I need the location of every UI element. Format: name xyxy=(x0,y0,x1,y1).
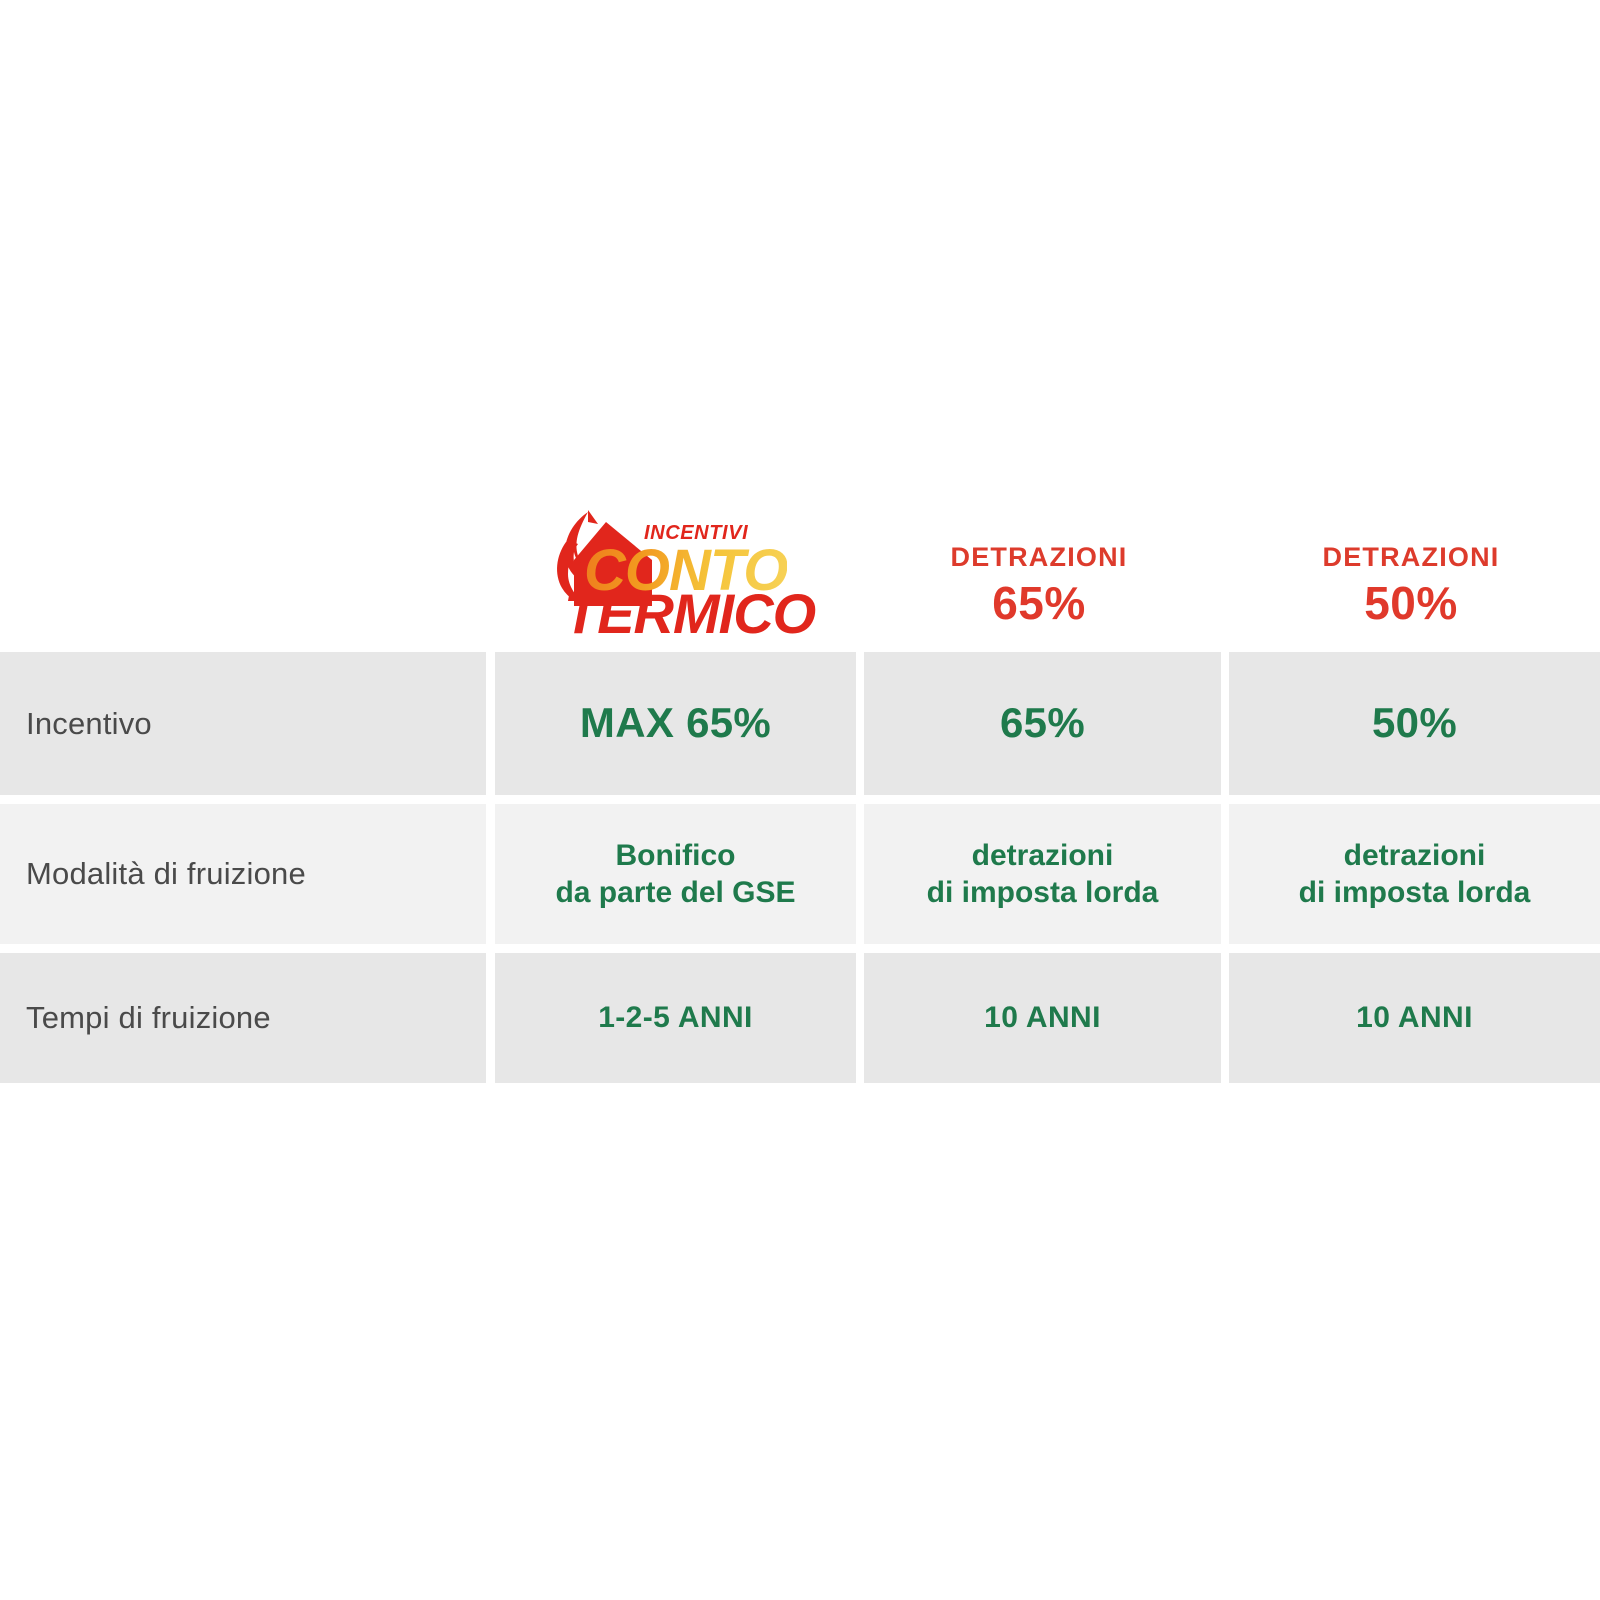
value-incentivo-detrazioni-50: 50% xyxy=(1372,697,1457,750)
cell-incentivo-detrazioni-50: 50% xyxy=(1229,652,1600,795)
header-percent-50: 50% xyxy=(1323,580,1500,626)
row-label-tempi-di-fruizione: Tempi di fruizione xyxy=(26,1000,271,1036)
cell-modalita-conto-termico: Bonifico da parte del GSE xyxy=(495,804,856,944)
table-header-row: INCENTIVI CONTO TERMICO DETRAZIONI 65% D… xyxy=(0,478,1600,648)
cell-modalita-detrazioni-50: detrazioni di imposta lorda xyxy=(1229,804,1600,944)
table-row: Tempi di fruizione 1-2-5 ANNI 10 ANNI 10… xyxy=(0,953,1600,1083)
conto-termico-logo: INCENTIVI CONTO TERMICO xyxy=(536,500,806,648)
value-incentivo-conto-termico: MAX 65% xyxy=(580,697,771,750)
value-incentivo-detrazioni-65: 65% xyxy=(1000,697,1085,750)
value-modalita-detrazioni-50-line1: detrazioni xyxy=(1299,837,1531,875)
cell-incentivo-detrazioni-65: 65% xyxy=(864,652,1221,795)
value-tempi-detrazioni-50: 10 ANNI xyxy=(1356,999,1473,1037)
row-label-cell: Incentivo xyxy=(0,652,486,795)
value-tempi-detrazioni-65: 10 ANNI xyxy=(984,999,1101,1037)
table-row: Incentivo MAX 65% 65% 50% xyxy=(0,652,1600,795)
header-detrazioni-65: DETRAZIONI 65% xyxy=(856,478,1222,648)
cell-tempi-detrazioni-50: 10 ANNI xyxy=(1229,953,1600,1083)
row-label-modalita-di-fruizione: Modalità di fruizione xyxy=(26,856,306,892)
header-conto-termico: INCENTIVI CONTO TERMICO xyxy=(486,478,856,648)
cell-incentivo-conto-termico: MAX 65% xyxy=(495,652,856,795)
comparison-table-page: INCENTIVI CONTO TERMICO DETRAZIONI 65% D… xyxy=(0,0,1600,1600)
cell-modalita-detrazioni-65: detrazioni di imposta lorda xyxy=(864,804,1221,944)
value-modalita-detrazioni-65-line2: di imposta lorda xyxy=(927,874,1159,912)
header-detrazioni-50: DETRAZIONI 50% xyxy=(1222,478,1600,648)
header-kicker-detrazioni-65: DETRAZIONI xyxy=(951,544,1128,571)
cell-tempi-detrazioni-65: 10 ANNI xyxy=(864,953,1221,1083)
value-modalita-detrazioni-65-line1: detrazioni xyxy=(927,837,1159,875)
value-modalita-detrazioni-50-line2: di imposta lorda xyxy=(1299,874,1531,912)
value-tempi-conto-termico: 1-2-5 ANNI xyxy=(598,999,753,1037)
header-kicker-detrazioni-50: DETRAZIONI xyxy=(1323,544,1500,571)
row-label-incentivo: Incentivo xyxy=(26,706,152,742)
value-modalita-conto-termico-line1: Bonifico xyxy=(555,837,795,875)
value-modalita-conto-termico-line2: da parte del GSE xyxy=(555,874,795,912)
row-label-cell: Modalità di fruizione xyxy=(0,804,486,944)
row-label-cell: Tempi di fruizione xyxy=(0,953,486,1083)
comparison-table: Incentivo MAX 65% 65% 50% Modalità di fr… xyxy=(0,652,1600,1092)
table-row: Modalità di fruizione Bonifico da parte … xyxy=(0,804,1600,944)
header-percent-65: 65% xyxy=(951,580,1128,626)
header-corner-empty xyxy=(0,478,486,648)
logo-word-termico: TERMICO xyxy=(564,586,815,642)
cell-tempi-conto-termico: 1-2-5 ANNI xyxy=(495,953,856,1083)
